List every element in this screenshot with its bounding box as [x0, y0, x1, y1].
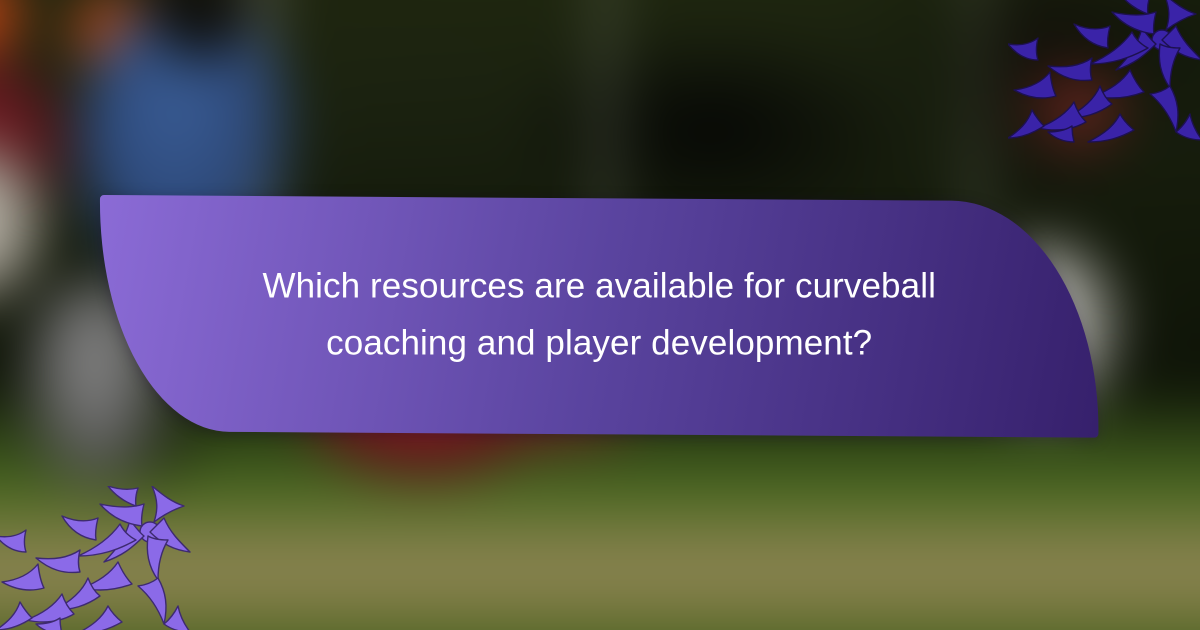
blurred-figure: [1018, 60, 1138, 160]
question-text: Which resources are available for curveb…: [203, 257, 995, 375]
question-banner: Which resources are available for curveb…: [98, 195, 1100, 438]
banner-canvas: Which resources are available for curveb…: [0, 0, 1200, 630]
